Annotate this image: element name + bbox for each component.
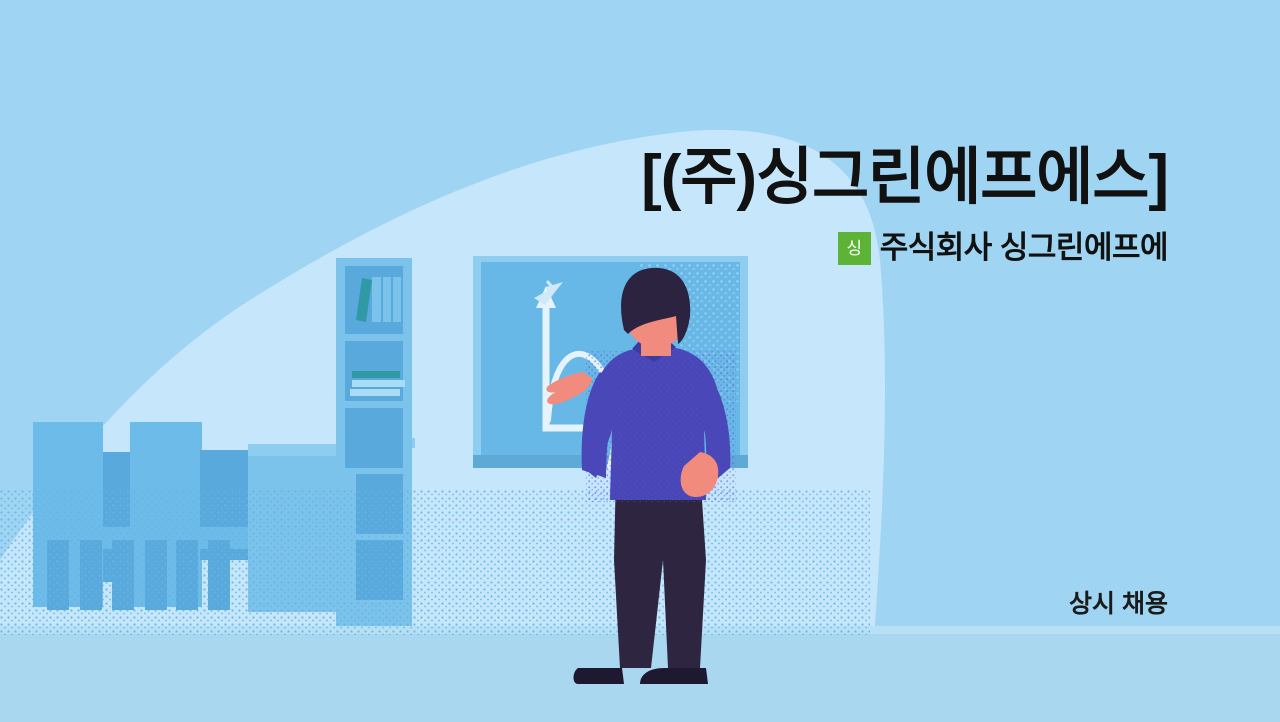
left-shoe xyxy=(574,668,625,684)
scene-illustration xyxy=(0,0,1280,722)
job-posting-banner: [(주)싱그린에프에스] 싱 주식회사 싱그린에프에 상시 채용 xyxy=(0,0,1280,722)
speckle-band xyxy=(0,490,870,635)
